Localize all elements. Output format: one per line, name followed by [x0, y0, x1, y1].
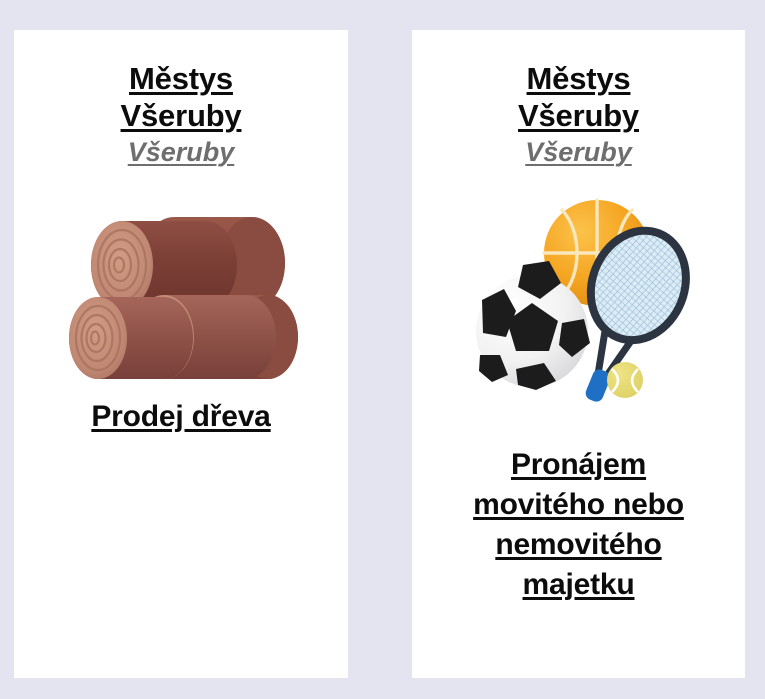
- caption-line: majetku: [422, 565, 735, 605]
- sports-equipment-icon: [466, 191, 691, 403]
- sports-equipment-illustration: [412, 191, 745, 403]
- log-bottom-left: [69, 297, 193, 379]
- card-caption: Prodej dřeva: [14, 397, 348, 437]
- card-header: Městys Všeruby Všeruby: [14, 30, 348, 169]
- card-title-line-2: Všeruby: [14, 97, 348, 134]
- caption-line: movitého nebo: [422, 485, 735, 525]
- card-title-line-1: Městys: [14, 60, 348, 97]
- wood-logs-illustration: [14, 191, 348, 381]
- card-title-line-2: Všeruby: [412, 97, 745, 134]
- tile-board: Městys Všeruby Všeruby: [0, 0, 765, 699]
- card-header: Městys Všeruby Všeruby: [412, 30, 745, 169]
- card-pronajem-majetku[interactable]: Městys Všeruby Všeruby: [412, 30, 745, 678]
- caption-line: Prodej dřeva: [24, 397, 338, 437]
- tennis-ball-icon: [607, 362, 643, 398]
- card-subtitle: Všeruby: [14, 136, 348, 169]
- caption-line: nemovitého: [422, 525, 735, 565]
- card-title-line-1: Městys: [412, 60, 745, 97]
- wood-logs-icon: [56, 191, 306, 381]
- card-caption: Pronájem movitého nebo nemovitého majetk…: [412, 445, 745, 605]
- card-subtitle: Všeruby: [412, 136, 745, 169]
- caption-line: Pronájem: [422, 445, 735, 485]
- card-prodej-dreva[interactable]: Městys Všeruby Všeruby: [14, 30, 348, 678]
